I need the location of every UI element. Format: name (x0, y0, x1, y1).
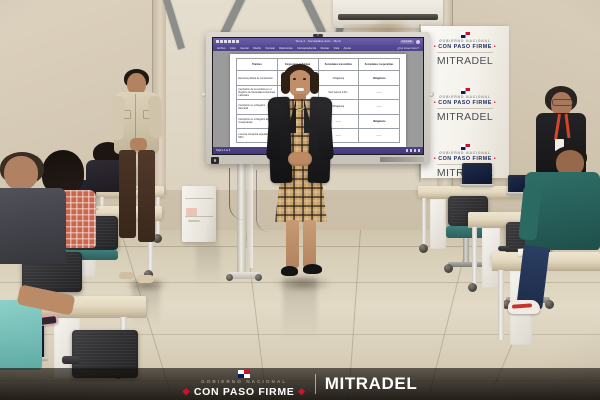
cell-cooperativas: —— (359, 85, 400, 99)
tab-referencias[interactable]: Referencias (279, 47, 292, 50)
cell-tramite: Escritura pública de constitución (237, 71, 278, 85)
col-cooperativas: Sociedades cooperativas (359, 59, 400, 71)
hands-clasped (288, 152, 312, 166)
cell-cooperativas: Obligatoria (359, 71, 400, 85)
print-layout-icon[interactable] (410, 149, 412, 151)
stand-caster-right (255, 274, 262, 281)
panama-flag-icon-footer (238, 370, 250, 378)
tab-vista[interactable]: Vista (334, 47, 340, 50)
col-mercantiles: Sociedades mercantiles (318, 59, 359, 71)
table-header-row: Trámites Empresario individual Sociedade… (237, 59, 400, 71)
watermark-entidad-text: MITRADEL (325, 374, 418, 394)
display-power-button[interactable] (211, 157, 219, 164)
stand-caster-left (226, 274, 233, 281)
eye-right (303, 78, 306, 80)
watermark-lema-text: ◆ CON PASO FIRME ◆ (183, 387, 306, 398)
panama-flag-icon-3 (461, 144, 470, 150)
zoom-slider[interactable] (418, 149, 420, 151)
banner-rule (437, 52, 493, 53)
banner-logo-block-2: GOBIERNO NACIONAL • CON PASO FIRME • MIT… (421, 82, 509, 138)
tab-inicio[interactable]: Inicio (230, 47, 236, 50)
banner-gobierno-text-3: GOBIERNO NACIONAL (421, 151, 509, 155)
cell-mercantiles: Obligatoria (318, 71, 359, 85)
watermark-gobierno-text: GOBIERNO NACIONAL (183, 380, 306, 385)
glasses-icon (552, 99, 573, 106)
read-view-icon[interactable] (406, 149, 408, 151)
cabinet-label (186, 208, 197, 216)
cell-cooperativas: Obligatoria (359, 114, 400, 128)
tab-diseno[interactable]: Diseño (253, 47, 261, 50)
heel-shoe-left (281, 266, 298, 276)
tab-revisar[interactable]: Revisar (321, 47, 329, 50)
banner-gobierno-text-2: GOBIERNO NACIONAL (421, 95, 509, 99)
avatar[interactable] (416, 40, 420, 44)
watermark-divider (315, 374, 316, 394)
tell-me-box[interactable]: ¿Qué desea hacer? (397, 47, 419, 50)
watermark-logo: GOBIERNO NACIONAL ◆ CON PASO FIRME ◆ (183, 370, 306, 397)
display-cable (229, 168, 244, 220)
banner-lema-text: • CON PASO FIRME • (421, 44, 509, 50)
display-stand-column-rear (247, 164, 253, 268)
classroom-photo: GOBIERNO NACIONAL • CON PASO FIRME • MIT… (0, 0, 600, 400)
cabinet-handle[interactable] (188, 220, 200, 222)
tab-insertar[interactable]: Insertar (240, 47, 248, 50)
banner-entidad-text-2: MITRADEL (421, 111, 509, 123)
display-cable-2 (256, 170, 269, 232)
banner-rule-2 (437, 108, 493, 109)
web-layout-icon[interactable] (414, 149, 416, 151)
panama-flag-icon (461, 32, 470, 38)
hair-side-right (310, 72, 319, 94)
footer-watermark: GOBIERNO NACIONAL ◆ CON PASO FIRME ◆ MIT… (0, 368, 600, 400)
office-title-bar: Tema 4 - Sociedades.docx - Word Comparti… (213, 38, 423, 45)
display-bezel-button-right[interactable] (429, 92, 434, 97)
mouth-smile (296, 88, 304, 91)
display-brand-logo (380, 157, 424, 162)
hair-side-left (281, 72, 290, 94)
cell-cooperativas: —— (359, 100, 400, 114)
col-tramites: Trámites (237, 59, 278, 71)
banner-lema-text-3: • CON PASO FIRME • (421, 156, 509, 162)
heel-shoe-right (303, 264, 322, 274)
phone-screen[interactable] (40, 316, 57, 325)
banner-entidad-text: MITRADEL (421, 55, 509, 67)
mitradel-rollup-banner: GOBIERNO NACIONAL • CON PASO FIRME • MIT… (421, 26, 509, 178)
tab-ayuda[interactable]: Ayuda (344, 47, 351, 50)
share-button[interactable]: Compartir (400, 40, 415, 44)
document-title: Tema 4 - Sociedades.docx - Word (213, 40, 423, 43)
cell-cooperativas: —— (359, 128, 400, 142)
banner-gobierno-text: GOBIERNO NACIONAL (421, 39, 509, 43)
panama-flag-icon-2 (461, 88, 470, 94)
tab-correspondencia[interactable]: Correspondencia (297, 47, 316, 50)
eye-left (293, 78, 296, 80)
banner-logo-block: GOBIERNO NACIONAL • CON PASO FIRME • MIT… (421, 26, 509, 82)
side-cabinet (182, 186, 216, 242)
banner-lema-text-2: • CON PASO FIRME • (421, 100, 509, 106)
flat-shoe-2 (119, 272, 134, 279)
tab-formato[interactable]: Formato (265, 47, 274, 50)
tab-archivo[interactable]: Archivo (217, 47, 225, 50)
flat-shoe (137, 275, 154, 283)
page-indicator: Página 3 de 8 (216, 150, 230, 152)
display-bezel-button-left[interactable] (201, 92, 206, 97)
